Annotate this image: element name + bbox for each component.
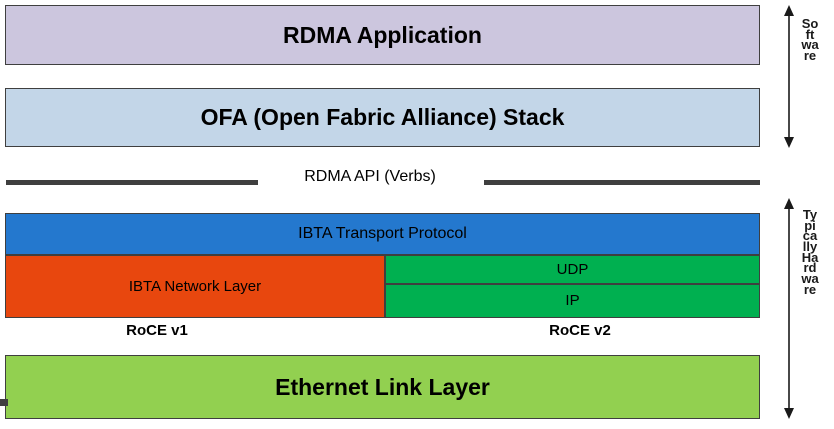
layer-label-ip: IP [565,293,579,309]
layer-label-rdma-application: RDMA Application [283,23,482,47]
annotation-roce-v2: RoCE v2 [520,322,640,339]
layer-block-ethernet-link-layer: Ethernet Link Layer [5,355,760,419]
span-bracket-hardware: Typically Hardware [775,198,834,419]
divider-label-rdma-api: RDMA API (Verbs) [270,168,470,186]
span-bracket-software: Software [775,5,834,148]
divider-line-right [484,180,760,185]
span-label-typically-hardware: Typically Hardware [801,210,819,295]
span-label-software: Software [801,19,819,62]
layer-label-ibta-transport-protocol: IBTA Transport Protocol [298,226,467,243]
protocol-stack-diagram: RDMA Application OFA (Open Fabric Allian… [0,0,834,429]
layer-block-ibta-transport-protocol: IBTA Transport Protocol [5,213,760,255]
layer-block-udp: UDP [385,255,760,284]
rdma-api-divider: RDMA API (Verbs) [0,168,770,194]
layer-block-ip: IP [385,284,760,318]
layer-label-ethernet-link-layer: Ethernet Link Layer [275,375,490,399]
layer-block-ofa-stack: OFA (Open Fabric Alliance) Stack [5,88,760,147]
annotation-roce-v1: RoCE v1 [97,322,217,339]
edge-marker-dot [0,399,8,406]
layer-label-udp: UDP [557,262,589,278]
double-headed-arrow-icon [779,198,799,419]
divider-line-left [6,180,258,185]
layer-label-ofa-stack: OFA (Open Fabric Alliance) Stack [201,105,565,129]
layer-label-ibta-network-layer: IBTA Network Layer [129,279,261,295]
layer-block-ibta-network-layer: IBTA Network Layer [5,255,385,318]
layer-block-rdma-application: RDMA Application [5,5,760,65]
double-headed-arrow-icon [779,5,799,148]
